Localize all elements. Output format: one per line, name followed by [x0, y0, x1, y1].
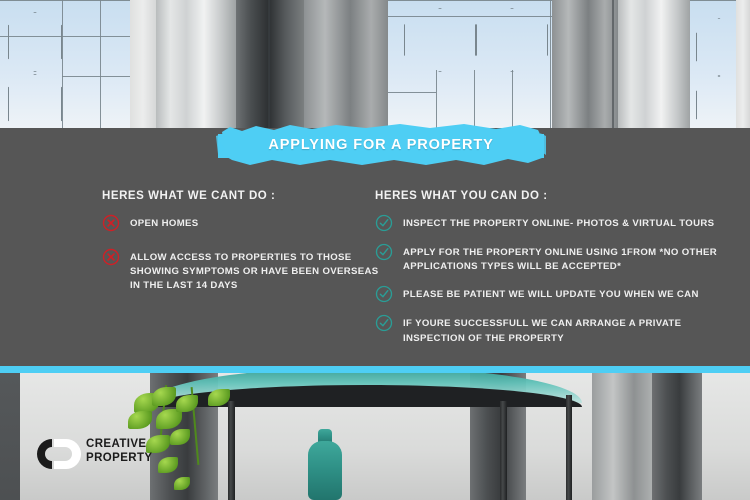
plant-leaf: [170, 429, 190, 445]
poster-canvas: APPLYING FOR A PROPERTY HERES WHAT WE CA…: [0, 0, 750, 500]
circle-check-icon: [375, 285, 393, 303]
list-item-line: INSPECT THE PROPERTY ONLINE- PHOTOS & VI…: [403, 217, 714, 231]
curtain-mid-right: [552, 0, 618, 128]
list-item-line: APPLICATIONS TYPES WILL BE ACCEPTED*: [403, 260, 717, 274]
list-item: OPEN HOMES: [102, 216, 364, 232]
logo-wordmark: CREATIVE PROPERTY: [86, 438, 152, 465]
circle-check-icon: [375, 314, 393, 332]
glass-lead-line: [550, 0, 551, 128]
plant-leaf: [128, 411, 152, 429]
column-heading-left: HERES WHAT WE CANT DO :: [102, 190, 364, 202]
glass-lead-line: [474, 70, 475, 128]
list-item-text: PLEASE BE PATIENT WE WILL UPDATE YOU WHE…: [403, 287, 699, 302]
list-item: IF YOURE SUCCESSFULL WE CAN ARRANGE A PR…: [375, 316, 700, 345]
glass-lead-line: [436, 70, 437, 128]
list-item: INSPECT THE PROPERTY ONLINE- PHOTOS & VI…: [375, 216, 700, 232]
plant-leaf: [176, 395, 198, 412]
table-leg: [500, 401, 507, 500]
list-item-text: APPLY FOR THE PROPERTY ONLINE USING 1FRO…: [403, 245, 717, 274]
table-leg: [566, 395, 572, 500]
plant-leaf: [158, 457, 178, 473]
list-item-line: INSPECTION OF THE PROPERTY: [403, 332, 681, 346]
circle-x-icon: [102, 248, 120, 266]
list-item-text: INSPECT THE PROPERTY ONLINE- PHOTOS & VI…: [403, 216, 714, 231]
list-item-line: IF YOURE SUCCESSFULL WE CAN ARRANGE A PR…: [403, 317, 681, 331]
circle-check-icon: [375, 243, 393, 261]
curtain-right-light: [592, 373, 652, 500]
list-item-line: OPEN HOMES: [130, 217, 199, 231]
window-frame-right: [736, 0, 750, 128]
glass-lead-line: [62, 76, 130, 77]
logo-line-2: PROPERTY: [86, 452, 152, 466]
curtain-fold: [612, 0, 614, 128]
list-item-text: OPEN HOMES: [130, 216, 199, 231]
list-item-line: APPLY FOR THE PROPERTY ONLINE USING 1FRO…: [403, 246, 717, 260]
list-item-line: SHOWING SYMPTOMS OR HAVE BEEN OVERSEAS: [130, 265, 379, 279]
curtain-far-right: [652, 373, 702, 500]
list-item-line: PLEASE BE PATIENT WE WILL UPDATE YOU WHE…: [403, 288, 699, 302]
list-item-text: ALLOW ACCESS TO PROPERTIES TO THOSE SHOW…: [130, 250, 379, 294]
glass-lead-line: [100, 0, 101, 128]
curtain-light-left: [156, 0, 236, 128]
glass-lead-line: [512, 70, 513, 128]
title-banner: APPLYING FOR A PROPERTY: [216, 122, 546, 168]
logo-line-1: CREATIVE: [86, 438, 152, 452]
list-item-text: IF YOURE SUCCESSFULL WE CAN ARRANGE A PR…: [403, 316, 681, 345]
glass-lead-line: [388, 92, 436, 93]
list-item: APPLY FOR THE PROPERTY ONLINE USING 1FRO…: [375, 245, 700, 274]
vase-body: [308, 441, 342, 500]
column-can-do: HERES WHAT YOU CAN DO : INSPECT THE PROP…: [375, 190, 700, 359]
circle-x-icon: [102, 214, 120, 232]
top-photo-window: [0, 0, 750, 128]
cyan-divider-bar: [0, 366, 750, 373]
glass-lead-line: [62, 0, 63, 128]
banner-title-text: APPLYING FOR A PROPERTY: [216, 122, 546, 168]
circle-check-icon: [375, 214, 393, 232]
list-item-line: ALLOW ACCESS TO PROPERTIES TO THOSE: [130, 251, 379, 265]
plant-leaf: [208, 389, 230, 406]
cp-monogram-icon: [30, 437, 82, 471]
brand-logo: CREATIVE PROPERTY: [30, 437, 160, 493]
plant-leaf: [152, 387, 176, 406]
list-item: PLEASE BE PATIENT WE WILL UPDATE YOU WHE…: [375, 287, 700, 303]
plant-leaf: [174, 477, 190, 490]
plant-leaf: [156, 409, 182, 429]
window-frame-left: [130, 0, 156, 128]
curtain-dark-left: [236, 0, 304, 128]
curtain-fold: [268, 0, 270, 128]
wall-far-right: [702, 373, 750, 500]
glass-lead-line: [0, 36, 130, 37]
curtain-mid: [304, 0, 388, 128]
column-heading-right: HERES WHAT YOU CAN DO :: [375, 190, 700, 202]
curtain-light-right: [618, 0, 690, 128]
list-item: ALLOW ACCESS TO PROPERTIES TO THOSE SHOW…: [102, 250, 364, 294]
column-cant-do: HERES WHAT WE CANT DO : OPEN HOMES ALLOW…: [102, 190, 364, 307]
list-item-line: IN THE LAST 14 DAYS: [130, 279, 379, 293]
